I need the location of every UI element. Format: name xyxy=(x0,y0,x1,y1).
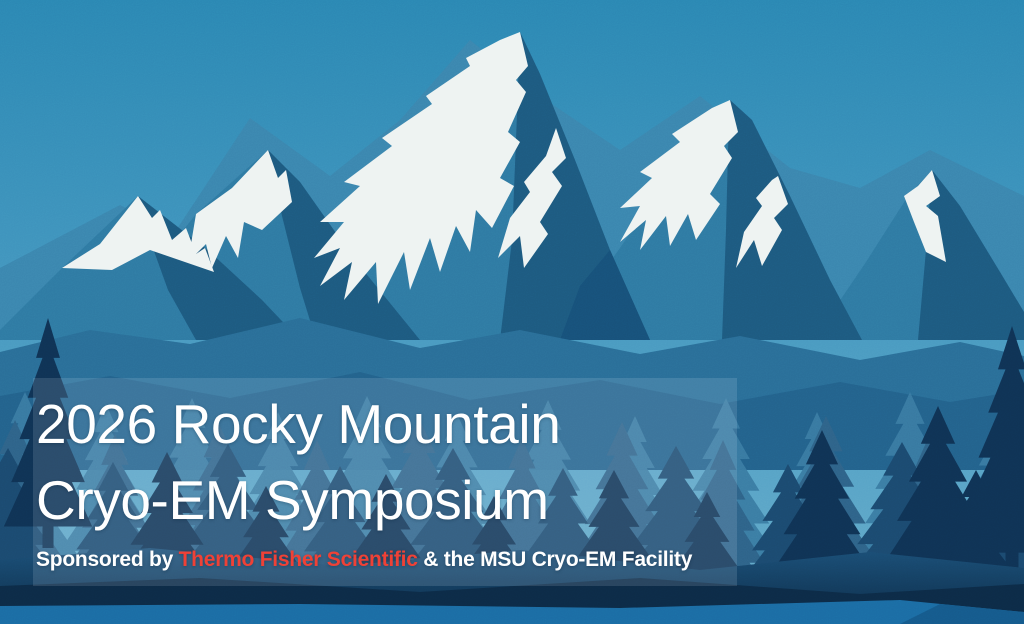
sponsor-line: Sponsored by Thermo Fisher Scientific & … xyxy=(36,547,737,573)
title-line-2: Cryo-EM Symposium xyxy=(36,462,737,538)
sponsor-suffix: & the MSU Cryo-EM Facility xyxy=(418,548,692,571)
sponsor-prefix: Sponsored by xyxy=(36,548,179,571)
title-block: 2026 Rocky Mountain Cryo-EM Symposium Sp… xyxy=(33,378,737,586)
sponsor-brand-name: Thermo Fisher Scientific xyxy=(179,548,418,571)
title-line-1: 2026 Rocky Mountain xyxy=(36,386,737,462)
symposium-banner: 2026 Rocky Mountain Cryo-EM Symposium Sp… xyxy=(0,0,1024,624)
